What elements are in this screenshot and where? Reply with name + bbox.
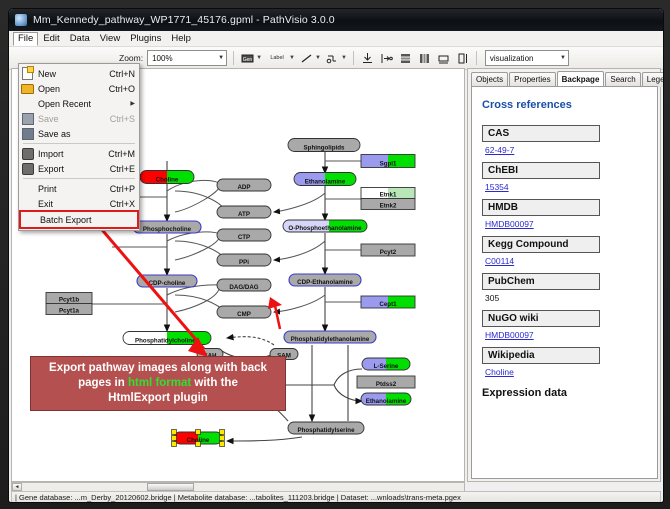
application-window: Mm_Kennedy_pathway_WP1771_45176.gpml - P… [8,8,664,503]
tab-legend[interactable]: Legend [642,72,664,87]
file-menu-dropdown[interactable]: NewCtrl+NOpenCtrl+OOpen Recent▶SaveCtrl+… [18,63,140,231]
cross-reference-entry: PubChem305 [482,273,647,303]
desktop-background: Mm_Kennedy_pathway_WP1771_45176.gpml - P… [0,0,670,509]
chevron-down-icon: ▼ [218,55,224,61]
export-icon [21,163,34,174]
metabolite-node-label: O-Phosphoethanolamine [288,225,362,232]
cross-reference-link[interactable]: HMDB00097 [485,330,647,340]
file-menu-item-exit[interactable]: ExitCtrl+X [19,196,139,211]
visualization-value: visualization [490,54,534,63]
gene-node[interactable]: Pcyt1b [46,293,92,304]
menu-separator [23,143,135,144]
chevron-down-icon: ▼ [560,55,566,61]
cross-reference-link[interactable]: C00114 [485,256,647,266]
callout-line2-a: pages in [78,377,128,389]
metabolite-node-label: Ethanolamine [366,398,407,405]
status-bar: | Gene database: ...m_Derby_20120602.bri… [11,491,661,503]
metabolite-node[interactable]: Phosphatidylethanolamine [284,331,376,343]
tab-objects[interactable]: Objects [471,72,508,87]
metabolite-node[interactable]: Phosphocholine [133,221,201,233]
file-menu-item-accelerator: Ctrl+X [110,199,135,209]
chevron-down-icon[interactable]: ▼ [341,55,347,61]
file-menu-item-import[interactable]: ImportCtrl+M [19,146,139,161]
cross-references-heading: Cross references [482,99,647,111]
gene-node[interactable]: Pcyt1a [46,304,92,315]
metabolite-node[interactable]: Ethanolamine [361,393,411,405]
metabolite-node[interactable]: Choline [140,171,194,184]
line-tool-icon[interactable] [299,51,314,66]
cross-reference-value: 305 [485,293,647,303]
file-menu-item-accelerator: Ctrl+E [110,164,135,174]
gene-node-label: Pcyt1a [59,308,80,315]
gene-node-label: Pcyt1b [59,297,80,304]
selection-handle[interactable] [172,430,177,435]
backpage-content[interactable]: Cross references CAS62-49-7ChEBI15354HMD… [471,86,658,479]
file-menu-item-save: SaveCtrl+S [19,111,139,126]
cross-reference-link[interactable]: Choline [485,367,647,377]
file-menu-item-label: Open Recent [38,99,130,109]
file-menu-item-label: Open [38,84,109,94]
metabolite-node-label: ATP [238,211,250,218]
datanode-tool-icon[interactable]: Gen [240,51,255,66]
zoom-label: Zoom: [119,53,143,63]
window-title: Mm_Kennedy_pathway_WP1771_45176.gpml - P… [33,14,335,26]
selection-handle[interactable] [220,442,225,447]
submenu-arrow-icon: ▶ [130,100,135,107]
metabolite-node-label: CMP [237,311,251,318]
metabolite-node[interactable]: CDP-Ethanolamine [289,274,361,286]
selection-handle[interactable] [172,442,177,447]
application-icon [15,14,27,26]
tab-search[interactable]: Search [605,72,640,87]
selection-handle[interactable] [220,430,225,435]
file-menu-item-label: Print [38,184,110,194]
cross-reference-database: Wikipedia [482,347,600,364]
cross-reference-database: CAS [482,125,600,142]
file-menu-item-save-as[interactable]: Save as [19,126,139,141]
gene-node-label: Ptdss2 [376,381,397,388]
cross-reference-entry: Kegg CompoundC00114 [482,236,647,266]
import-icon [21,148,34,159]
align-top-icon[interactable] [360,51,375,66]
distribute-horizontal-icon[interactable] [417,51,432,66]
file-menu-item-print[interactable]: PrintCtrl+P [19,181,139,196]
same-height-icon[interactable] [455,51,470,66]
file-menu-item-label: Save as [38,129,135,139]
selection-handle[interactable] [196,442,201,447]
zoom-combo[interactable]: 100% ▼ [147,50,227,66]
cross-reference-link[interactable]: HMDB00097 [485,219,647,229]
metabolite-node-label: Choline [156,176,179,183]
menu-item-spacer-icon [23,214,36,225]
visualization-combo[interactable]: visualization ▼ [485,50,569,66]
selection-handle[interactable] [172,436,177,441]
file-menu-item-batch-export[interactable]: Batch Export [21,212,137,227]
file-menu-item-accelerator: Ctrl+N [109,69,135,79]
metabolite-node[interactable]: CDP-choline [137,275,197,287]
cross-reference-database: PubChem [482,273,600,290]
save-icon [21,113,34,124]
menu-file[interactable]: File [13,32,38,46]
metabolite-node[interactable]: L-Serine [362,358,410,370]
file-menu-item-export[interactable]: ExportCtrl+E [19,161,139,176]
file-menu-item-label: Batch Export [40,215,133,225]
metabolite-node[interactable]: PPi [217,254,271,266]
align-left-icon[interactable] [379,51,394,66]
callout-line2-b: with the [191,377,238,389]
file-menu-item-open-recent[interactable]: Open Recent▶ [19,96,139,111]
callout-line3: HtmlExport plugin [108,392,208,404]
menu-help[interactable]: Help [166,32,196,46]
menu-view[interactable]: View [95,32,125,46]
file-menu-item-accelerator: Ctrl+S [110,114,135,124]
cross-reference-link[interactable]: 62-49-7 [485,145,647,155]
metabolite-node[interactable]: Phosphatidylcholines [123,332,211,345]
cross-reference-entry: HMDBHMDB00097 [482,199,647,229]
toolbar-separator [476,51,477,65]
gene-node[interactable]: Ptdss2 [357,376,415,388]
metabolite-node[interactable]: Sphingolipids [288,139,360,152]
metabolite-node[interactable]: ADP [217,179,271,191]
chevron-down-icon[interactable]: ▼ [315,55,321,61]
scrollbar-thumb[interactable] [147,483,194,491]
status-area: ◄ | Gene database: ...m_Derby_20120602.b… [11,482,661,501]
gene-node-label: Cept1 [379,301,397,308]
metabolite-node-label: CDP-choline [149,280,186,287]
tab-backpage[interactable]: Backpage [557,71,605,86]
metabolite-node-label: CTP [238,234,250,241]
gene-node[interactable]: Pcyt2 [361,244,415,256]
metabolite-node-label: PPi [239,259,249,266]
toolbar-separator [353,51,354,65]
file-menu-item-label: Exit [38,199,110,209]
metabolite-node-label: Phosphocholine [143,226,192,233]
menu-separator [23,178,135,179]
cross-reference-link[interactable]: 15354 [485,182,647,192]
cross-reference-database: ChEBI [482,162,600,179]
zoom-value: 100% [152,54,172,63]
selection-handle[interactable] [220,436,225,441]
metabolite-node-label: Phosphatidylethanolamine [291,336,370,343]
metabolite-node-label: Ethanolamine [305,178,346,185]
new-document-icon [21,68,34,79]
cross-reference-database: NuGO wiki [482,310,600,327]
svg-text:Gen: Gen [243,56,253,62]
menu-item-spacer-icon [21,198,34,209]
callout-line1: Export pathway images along with back [49,362,267,374]
interaction-tool-icon[interactable] [325,51,340,66]
menu-item-spacer-icon [21,183,34,194]
metabolite-node[interactable]: CTP [217,229,271,241]
distribute-vertical-icon[interactable] [398,51,413,66]
file-menu-item-accelerator: Ctrl+M [108,149,135,159]
save-as-icon [21,128,34,139]
file-menu-item-open[interactable]: OpenCtrl+O [19,81,139,96]
gene-node-label: Etnk2 [380,203,397,210]
expression-data-heading: Expression data [482,387,647,399]
metabolite-node[interactable]: O-Phosphoethanolamine [283,220,367,232]
tab-properties[interactable]: Properties [509,72,555,87]
open-folder-icon [21,83,34,94]
file-menu-item-label: Export [38,164,110,174]
title-bar: Mm_Kennedy_pathway_WP1771_45176.gpml - P… [9,9,663,31]
toolbar-separator [233,51,234,65]
gene-node[interactable]: Etnk2 [361,199,415,210]
cross-reference-entry: ChEBI15354 [482,162,647,192]
metabolite-node[interactable]: Ethanolamine [294,173,356,186]
gene-node[interactable]: Sgpl1 [361,155,415,168]
cross-reference-entry: CAS62-49-7 [482,125,647,155]
annotation-callout: Export pathway images along with back pa… [30,356,286,411]
cross-reference-database: HMDB [482,199,600,216]
metabolite-node[interactable]: DAG/DAG [217,279,271,291]
menu-data[interactable]: Data [65,32,95,46]
file-menu-item-label: Save [38,114,110,124]
same-width-icon[interactable] [436,51,451,66]
metabolite-node-label: Phosphatidylserine [297,427,355,434]
metabolite-node-label: Phosphatidylcholines [135,337,200,344]
callout-highlight: html format [128,377,191,389]
menu-item-spacer-icon [21,98,34,109]
side-panel: Objects Properties Backpage Search Legen… [467,68,661,482]
metabolite-node-label: L-Serine [374,363,399,370]
chevron-down-icon[interactable]: ▼ [256,55,262,61]
cross-reference-database: Kegg Compound [482,236,600,253]
menu-plugins[interactable]: Plugins [125,32,166,46]
metabolite-node-label: CDP-Ethanolamine [297,279,353,286]
menu-bar: File Edit Data View Plugins Help [9,31,663,47]
side-panel-tabs: Objects Properties Backpage Search Legen… [468,69,660,86]
file-menu-item-accelerator: Ctrl+P [110,184,135,194]
label-tool-icon[interactable]: Label [266,51,288,66]
cross-reference-entry: NuGO wikiHMDB00097 [482,310,647,340]
cross-reference-entry: WikipediaCholine [482,347,647,377]
metabolite-node-label: ADP [237,184,250,191]
chevron-down-icon[interactable]: ▼ [289,55,295,61]
file-menu-item-label: Import [38,149,108,159]
selection-handle[interactable] [196,430,201,435]
metabolite-node[interactable]: Phosphatidylserine [288,422,364,434]
gene-node[interactable]: Cept1 [361,296,415,308]
menu-edit[interactable]: Edit [38,32,64,46]
gene-node-label: Pcyt2 [380,249,397,256]
gene-node-label: Sgpl1 [380,160,397,167]
gene-node-label: Etnk1 [380,192,397,199]
file-menu-item-accelerator: Ctrl+O [109,84,135,94]
metabolite-node-label: Sphingolipids [304,144,345,151]
metabolite-node[interactable]: Choline [172,430,225,447]
scroll-left-arrow[interactable]: ◄ [12,483,22,491]
file-menu-item-new[interactable]: NewCtrl+N [19,66,139,81]
cross-reference-list: CAS62-49-7ChEBI15354HMDBHMDB00097Kegg Co… [482,125,647,377]
metabolite-node[interactable]: ATP [217,206,271,218]
metabolite-node[interactable]: CMP [217,306,271,318]
file-menu-item-label: New [38,69,109,79]
gene-node[interactable]: Etnk1 [361,188,415,199]
metabolite-node-label: DAG/DAG [229,284,258,291]
